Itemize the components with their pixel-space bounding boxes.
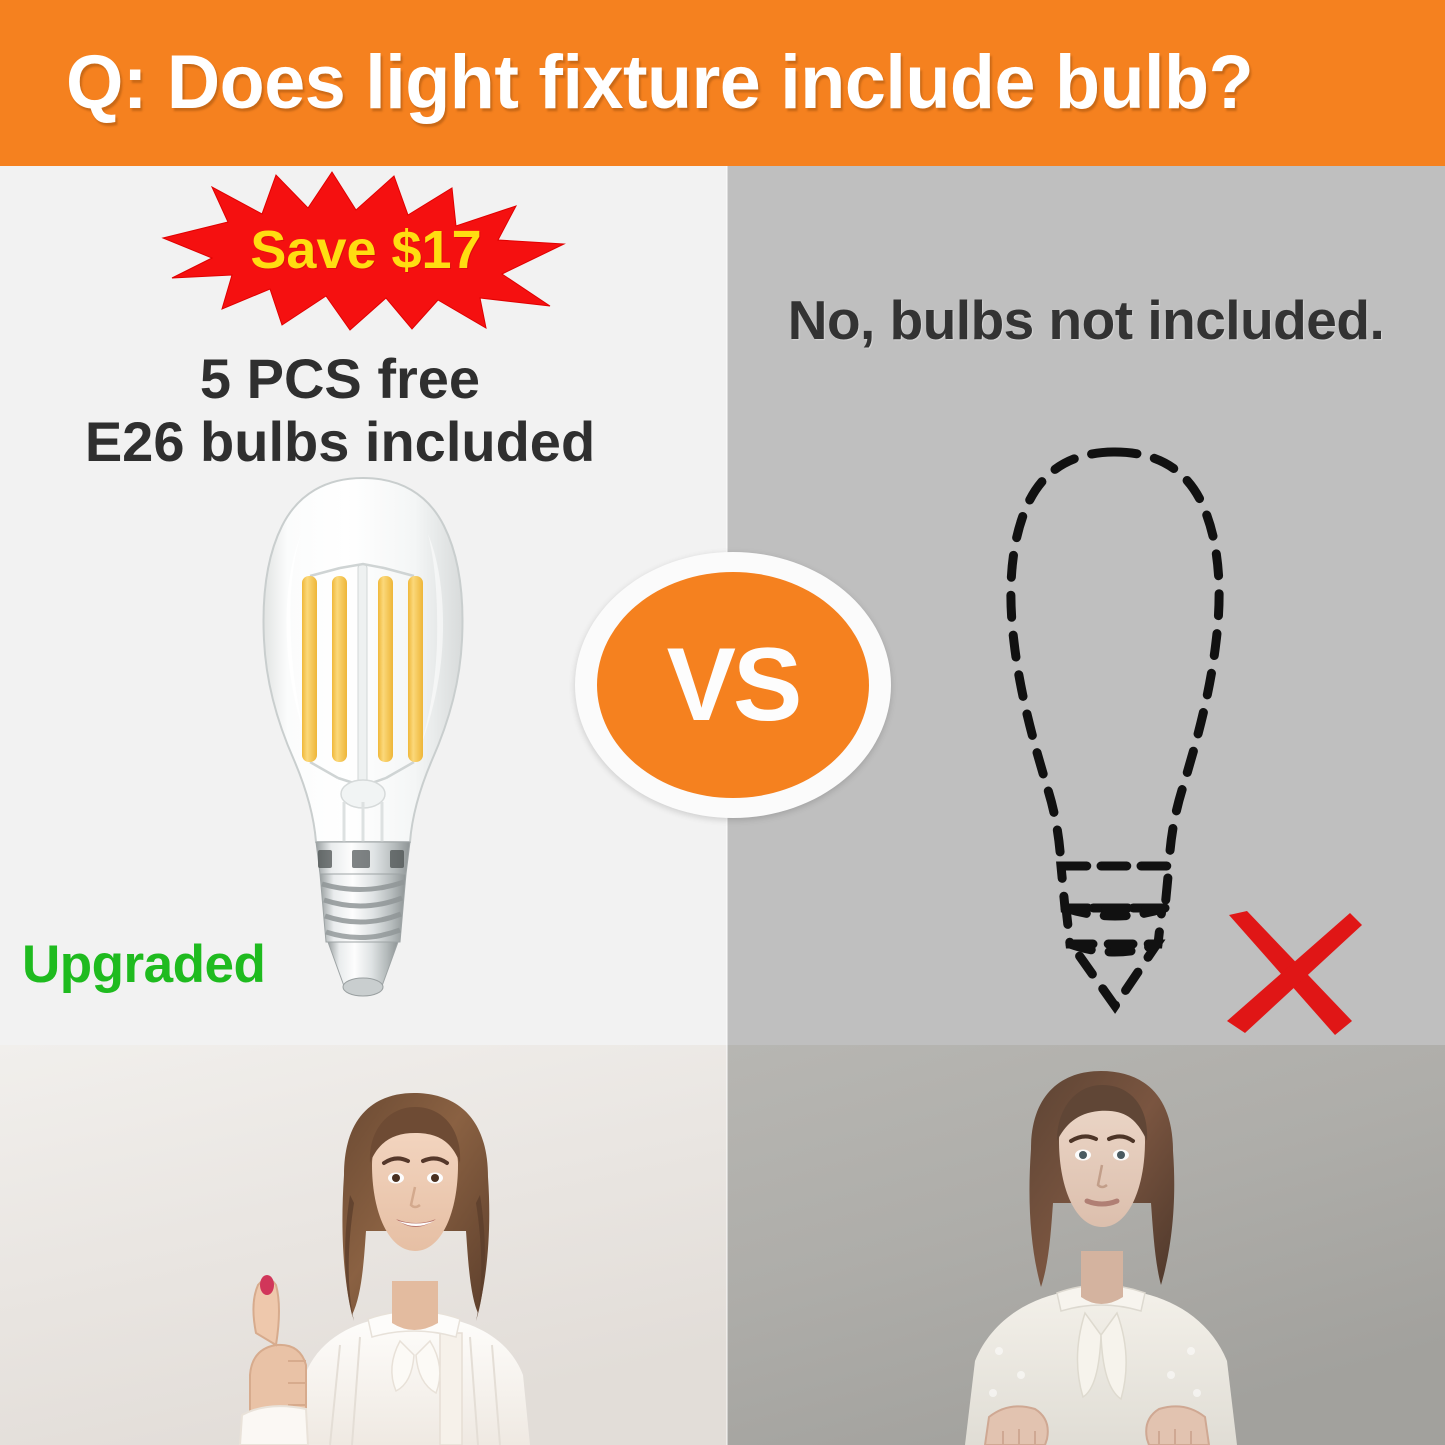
- left-headline: 5 PCS free E26 bulbs included: [0, 348, 680, 473]
- upgraded-label: Upgraded: [22, 934, 265, 995]
- comparison-section: Save $17 5 PCS free E26 bulbs included: [0, 166, 1445, 1045]
- cross-icon: [1217, 911, 1362, 1036]
- save-badge-label: Save $17: [150, 170, 570, 330]
- left-headline-line1: 5 PCS free: [0, 348, 680, 411]
- save-badge: Save $17: [150, 170, 570, 330]
- led-bulb-image: [232, 472, 494, 1008]
- page-title: Q: Does light fixture include bulb?: [66, 45, 1253, 121]
- vs-badge: VS: [575, 552, 891, 818]
- vs-label: VS: [667, 633, 800, 737]
- e26-screw-base: [316, 842, 410, 996]
- bulb-comparison-infographic: Q: Does light fixture include bulb? Save…: [0, 0, 1445, 1445]
- photo-strip: [0, 1045, 1445, 1445]
- photo-disappointed-customer: [727, 1045, 1445, 1445]
- bulb-outline-placeholder-icon: [982, 438, 1247, 1018]
- vs-badge-disc: VS: [597, 572, 869, 798]
- right-headline: No, bulbs not included.: [727, 288, 1445, 352]
- left-headline-line2: E26 bulbs included: [0, 411, 680, 474]
- photo-happy-customer: [0, 1045, 727, 1445]
- header-band: Q: Does light fixture include bulb?: [0, 0, 1445, 166]
